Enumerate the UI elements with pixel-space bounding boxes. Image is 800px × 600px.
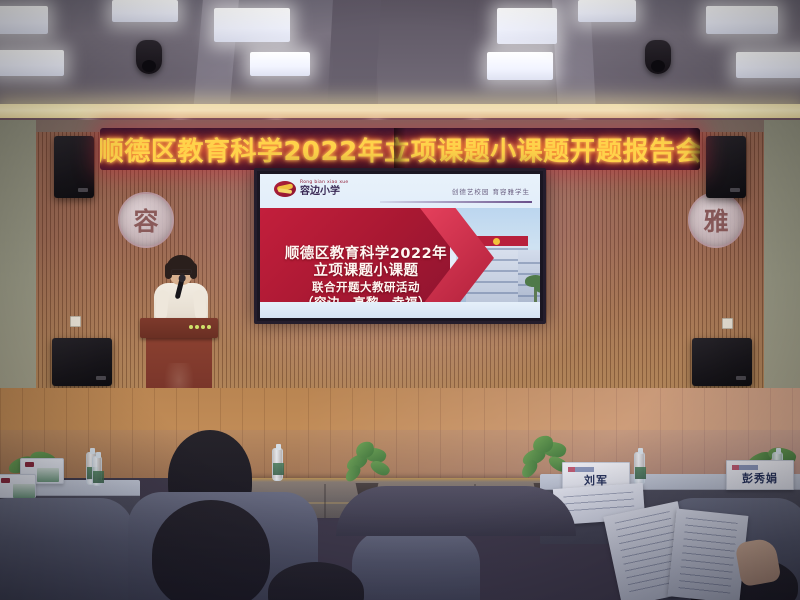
tissue-box-left-2 xyxy=(0,474,36,498)
floor-speaker-right xyxy=(692,338,752,386)
slide-body: 顺德区教育科学2022年 立项课题小课题 联合开题大教研活动 （容边、高黎、幸福… xyxy=(260,208,540,308)
plant-leaf xyxy=(368,457,391,478)
slide-title-line-3: 联合开题大教研活动 xyxy=(266,280,466,295)
water-bottle xyxy=(272,448,283,481)
slide-header: Rong bian xiao xue 容边小学 创德艺校园 育容雅学生 xyxy=(260,174,540,208)
wall-outlet-plate[interactable] xyxy=(722,318,733,329)
water-bottle xyxy=(634,452,645,485)
audience-chair xyxy=(352,530,480,600)
ceiling-panel-light xyxy=(0,50,64,76)
ceiling-panel-light xyxy=(214,8,290,42)
ceiling-projector-icon xyxy=(645,40,671,74)
ceiling-projector-icon xyxy=(136,40,162,74)
presenter xyxy=(152,258,210,324)
led-banner: 顺德区教育科学2022年立项课题小课题开题报告会 xyxy=(100,128,700,170)
slide-title-line-2: 立项课题小课题 xyxy=(266,263,466,280)
school-logo: Rong bian xiao xue 容边小学 xyxy=(274,181,349,197)
medallion-left-character: 容 xyxy=(133,202,158,238)
audience-chair xyxy=(0,498,134,600)
ceiling-panel-light xyxy=(0,6,48,34)
building-emblem-icon xyxy=(493,238,500,245)
ledge-divider xyxy=(324,484,326,518)
ceiling-panel-light xyxy=(497,8,557,44)
wall-speaker-top-right xyxy=(706,136,746,198)
slide-footer xyxy=(260,302,540,318)
ceiling-panel-light xyxy=(250,52,310,76)
ceiling-panel-light xyxy=(736,52,800,78)
banner-edge-left xyxy=(394,128,406,170)
projection-screen: Rong bian xiao xue 容边小学 创德艺校园 育容雅学生 xyxy=(254,168,546,324)
wall-medallion-right: 雅 xyxy=(688,192,744,248)
slide-slogan: 创德艺校园 育容雅学生 xyxy=(452,186,530,196)
podium-indicator-lights xyxy=(189,325,211,329)
ceiling xyxy=(0,0,800,112)
name-card: 彭秀娟 xyxy=(726,460,794,490)
ceiling-panel-light xyxy=(487,52,553,80)
auditorium-scene: 容 雅 顺德区教育科学2022年立项课题小课题开题报告会 Rong bian x… xyxy=(0,0,800,600)
ceiling-beam xyxy=(327,0,381,112)
wall-medallion-left: 容 xyxy=(118,192,174,248)
banner-edge-right xyxy=(688,128,700,170)
ceiling-panel-light xyxy=(578,0,636,22)
ceiling-panel-light xyxy=(112,0,178,22)
wall-outlet-plate[interactable] xyxy=(70,316,81,327)
floor-speaker-left xyxy=(52,338,112,386)
wall-speaker-top-left xyxy=(54,136,94,198)
school-logo-icon xyxy=(274,181,296,197)
document-lines xyxy=(678,517,737,594)
slide-title-line-1: 顺德区教育科学2022年 xyxy=(266,246,466,263)
audience-chair xyxy=(336,486,576,536)
medallion-right-character: 雅 xyxy=(703,202,728,238)
name-card-text: 彭秀娟 xyxy=(742,470,778,489)
water-bottle xyxy=(92,456,102,486)
school-logo-name: 容边小学 xyxy=(300,187,349,197)
slide-header-rule xyxy=(380,201,532,203)
audience-head xyxy=(152,500,270,600)
ceiling-panel-light xyxy=(706,6,778,34)
podium-top xyxy=(140,318,218,338)
presentation-slide: Rong bian xiao xue 容边小学 创德艺校园 育容雅学生 xyxy=(260,174,540,318)
